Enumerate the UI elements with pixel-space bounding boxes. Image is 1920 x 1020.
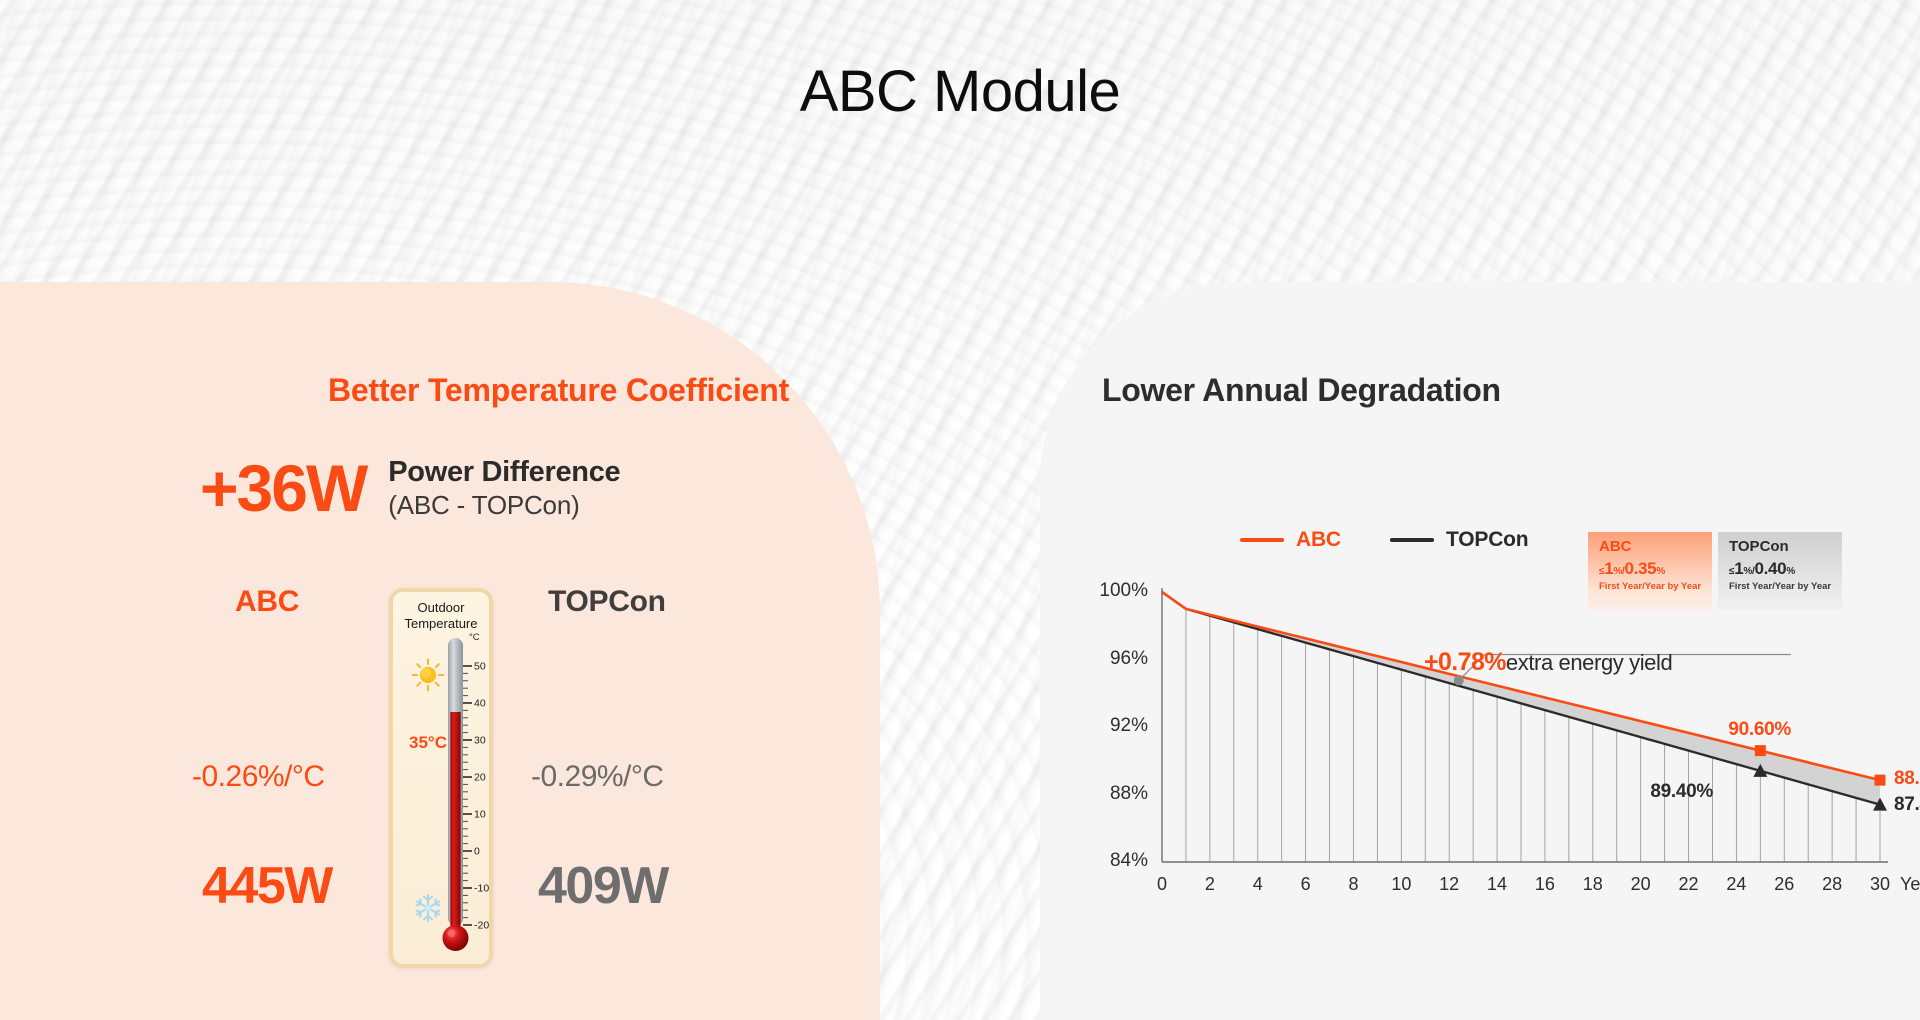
y-axis-tick-96: 96% (1082, 648, 1148, 670)
column-header-abc: ABC (235, 585, 299, 619)
legend-item-topcon: TOPCon (1390, 528, 1528, 552)
badge-abc-annual: 0.35 (1624, 559, 1656, 578)
legend-dash-topcon (1390, 538, 1434, 542)
right-panel-title: Lower Annual Degradation (1102, 372, 1501, 409)
svg-text:20: 20 (474, 772, 486, 784)
badge-topcon-unit1: % (1743, 566, 1752, 577)
x-axis-tick-4: 4 (1238, 874, 1278, 895)
x-axis-tick-20: 20 (1621, 874, 1661, 895)
x-axis-tick-18: 18 (1573, 874, 1613, 895)
power-difference-row: +36W Power Difference (ABC - TOPCon) (200, 455, 620, 521)
column-header-topcon: TOPCon (548, 585, 666, 619)
thermometer-title: Outdoor Temperature (393, 600, 489, 633)
badge-abc-rate: ≤1%/0.35% (1599, 560, 1703, 577)
x-axis-tick-14: 14 (1477, 874, 1517, 895)
left-panel-title: Better Temperature Coefficient (328, 372, 789, 409)
extra-yield-text: extra energy yield (1506, 650, 1672, 675)
data-label-topcon-year25: 89.40% (1650, 781, 1713, 803)
x-axis-tick-12: 12 (1429, 874, 1469, 895)
page-title: ABC Module (0, 58, 1920, 125)
power-difference-sublabel: (ABC - TOPCon) (388, 490, 620, 521)
data-label-topcon-year30: 87.40% (1894, 794, 1920, 816)
thermometer-title-line2: Temperature (405, 616, 478, 631)
svg-text:30: 30 (474, 735, 486, 747)
thermometer-widget: Outdoor Temperature 35 (389, 588, 493, 968)
x-axis-tick-6: 6 (1286, 874, 1326, 895)
x-axis-tick-22: 22 (1669, 874, 1709, 895)
legend-item-abc: ABC (1240, 528, 1341, 552)
badge-topcon-unit2: % (1786, 566, 1795, 577)
svg-text:-10: -10 (474, 883, 489, 895)
x-axis-tick-24: 24 (1716, 874, 1756, 895)
badge-abc-first: 1 (1604, 559, 1613, 578)
y-axis-tick-100: 100% (1082, 580, 1148, 602)
temp-coefficient-abc: -0.26%/°C (192, 760, 325, 794)
power-output-abc: 445W (202, 856, 332, 916)
badge-abc-unit2: % (1656, 566, 1665, 577)
snowflake-icon (412, 892, 444, 924)
legend-label-abc: ABC (1296, 528, 1341, 552)
data-label-abc-year25: 90.60% (1728, 719, 1791, 741)
legend-dash-abc (1240, 538, 1284, 542)
badge-topcon-first: 1 (1734, 559, 1743, 578)
x-axis-label: Years (1900, 874, 1920, 895)
badge-abc-unit1: % (1613, 566, 1622, 577)
thermometer-title-line1: Outdoor (418, 600, 465, 615)
badge-abc-name: ABC (1599, 539, 1703, 556)
x-axis-tick-2: 2 (1190, 874, 1230, 895)
temp-coefficient-topcon: -0.29%/°C (531, 760, 664, 794)
svg-text:-20: -20 (474, 920, 489, 932)
sun-icon (411, 658, 445, 692)
data-label-abc-year30: 88.85% (1894, 768, 1920, 790)
power-difference-value: +36W (200, 455, 366, 521)
badge-topcon-name: TOPCon (1729, 539, 1833, 556)
badge-topcon-annual: 0.40 (1754, 559, 1786, 578)
x-axis-tick-28: 28 (1812, 874, 1852, 895)
x-axis-tick-16: 16 (1525, 874, 1565, 895)
x-axis-tick-10: 10 (1381, 874, 1421, 895)
x-axis-tick-26: 26 (1764, 874, 1804, 895)
svg-text:10: 10 (474, 809, 486, 821)
svg-text:0: 0 (474, 846, 480, 858)
y-axis-tick-88: 88% (1082, 783, 1148, 805)
svg-text:50: 50 (474, 661, 486, 673)
svg-text:°C: °C (469, 632, 480, 643)
thermometer-scale: °C 50 (441, 630, 493, 965)
svg-text:40: 40 (474, 698, 486, 710)
x-axis-tick-0: 0 (1142, 874, 1182, 895)
legend-label-topcon: TOPCon (1446, 528, 1528, 552)
extra-yield-value: +0.78% (1424, 648, 1506, 676)
y-axis-tick-92: 92% (1082, 715, 1148, 737)
y-axis-tick-84: 84% (1082, 850, 1148, 872)
badge-topcon-rate: ≤1%/0.40% (1729, 560, 1833, 577)
power-output-topcon: 409W (538, 856, 668, 916)
power-difference-label: Power Difference (388, 455, 620, 489)
extra-yield-annotation: +0.78%extra energy yield (1424, 648, 1672, 677)
degradation-chart: 84%88%92%96%100%024681012141618202224262… (1090, 580, 1910, 930)
x-axis-tick-8: 8 (1333, 874, 1373, 895)
x-axis-tick-30: 30 (1860, 874, 1900, 895)
